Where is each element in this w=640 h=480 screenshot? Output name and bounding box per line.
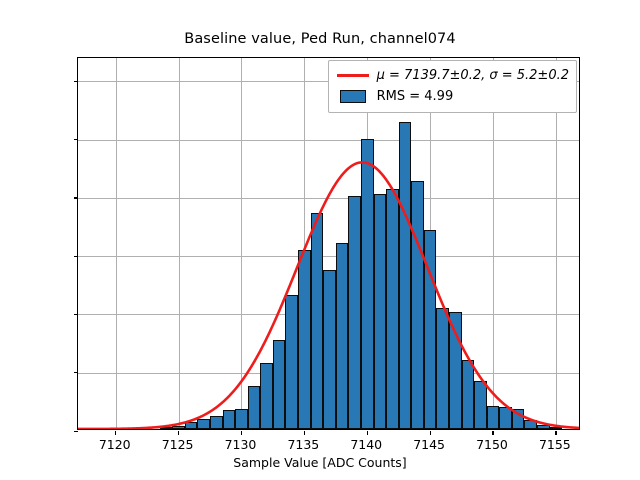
legend-label-rms: RMS = 4.99 [377, 89, 454, 104]
x-tick [430, 431, 431, 435]
x-tick [241, 431, 242, 435]
x-tick [304, 431, 305, 435]
x-tick-label: 7155 [515, 437, 595, 452]
x-tick [178, 431, 179, 435]
plot-area [78, 58, 579, 429]
figure: Baseline value, Ped Run, channel074 Even… [0, 0, 640, 480]
legend: μ = 7139.7±0.2, σ = 5.2±0.2 RMS = 4.99 [328, 60, 577, 113]
plot-axes: μ = 7139.7±0.2, σ = 5.2±0.2 RMS = 4.99 [77, 57, 580, 430]
x-tick [492, 431, 493, 435]
legend-line-swatch [336, 69, 370, 83]
y-tick [74, 431, 78, 432]
legend-item-fit: μ = 7139.7±0.2, σ = 5.2±0.2 [336, 65, 569, 86]
x-tick [555, 431, 556, 435]
legend-label-fit: μ = 7139.7±0.2, σ = 5.2±0.2 [377, 68, 569, 83]
gaussian-fit-curve [78, 58, 579, 429]
legend-patch-swatch [336, 90, 370, 104]
legend-item-rms: RMS = 4.99 [336, 86, 569, 107]
x-tick [115, 431, 116, 435]
x-axis-label: Sample Value [ADC Counts] [0, 455, 640, 470]
x-tick [367, 431, 368, 435]
chart-title: Baseline value, Ped Run, channel074 [0, 31, 640, 47]
y-axis-label: Events [0, 189, 2, 231]
